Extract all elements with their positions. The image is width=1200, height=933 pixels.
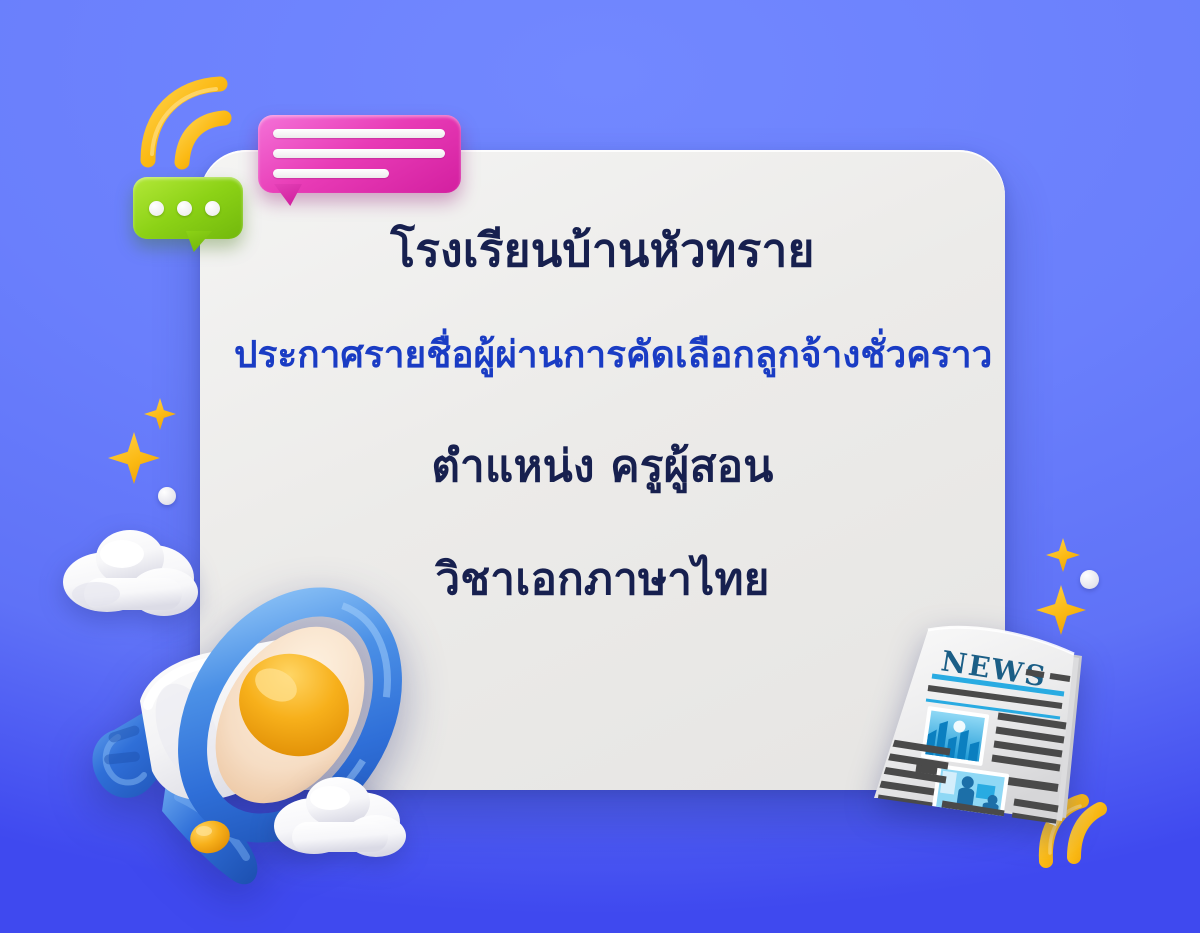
sparkle-star-icon bbox=[1046, 538, 1080, 572]
sparkle-star-icon bbox=[108, 432, 160, 484]
newspaper-icon: NEWS bbox=[858, 618, 1090, 843]
bubble-text-line bbox=[273, 129, 445, 138]
sparkle-star-icon bbox=[144, 398, 176, 430]
bubble-text-line bbox=[273, 149, 445, 158]
school-name: โรงเรียนบ้านหัวทราย bbox=[234, 222, 971, 280]
announcement-subject: ประกาศรายชื่อผู้ผ่านการคัดเลือกลูกจ้างชั… bbox=[234, 332, 971, 379]
speech-bubble-pink-icon bbox=[258, 115, 461, 193]
small-white-dot-icon bbox=[158, 487, 176, 505]
signal-arcs-icon bbox=[138, 78, 248, 168]
bubble-dot-icon bbox=[149, 201, 164, 216]
announcement-poster: โรงเรียนบ้านหัวทราย ประกาศรายชื่อผู้ผ่าน… bbox=[0, 0, 1200, 933]
speech-bubble-green-icon bbox=[133, 177, 243, 239]
small-white-dot-icon bbox=[1080, 570, 1099, 589]
bubble-dot-icon bbox=[205, 201, 220, 216]
cloud-icon bbox=[272, 768, 412, 862]
bubble-text-line bbox=[273, 169, 389, 178]
bubble-dot-icon bbox=[177, 201, 192, 216]
position-title: ตำแหน่ง ครูผู้สอน bbox=[234, 439, 971, 494]
